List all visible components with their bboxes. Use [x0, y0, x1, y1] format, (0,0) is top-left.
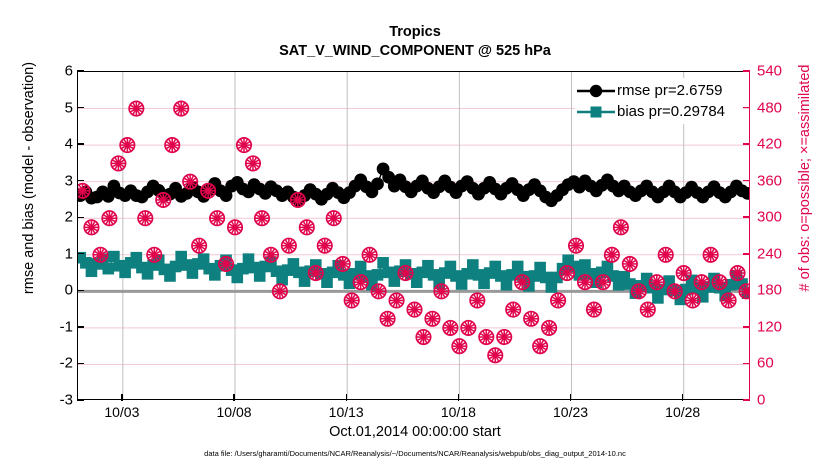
x-tick-label: 10/13 [306, 404, 386, 420]
y-tickmark-left [77, 217, 84, 218]
y-tickmark-right [743, 216, 750, 218]
x-tick-label: 10/08 [194, 404, 274, 420]
y-tickmark-right [743, 399, 750, 401]
legend-marker-bias [575, 103, 617, 121]
y-tickmark-left [77, 399, 84, 400]
y-tick-right: 300 [757, 209, 803, 226]
chart-title: Tropics [0, 24, 830, 40]
legend-item-bias[interactable]: bias pr=0.29784 [575, 101, 743, 122]
y-tickmark-right [743, 70, 750, 72]
y-tick-left: 3 [33, 172, 73, 189]
series-bias [78, 251, 749, 305]
y-tickmark-left [77, 363, 84, 364]
y-tick-right: 420 [757, 136, 803, 153]
y-tick-right: 540 [757, 63, 803, 80]
series-rmse [78, 162, 749, 207]
y-tick-left: -2 [33, 355, 73, 372]
y-tick-right: 60 [757, 355, 803, 372]
x-tickmark [682, 394, 683, 401]
y-tick-left: 4 [33, 136, 73, 153]
y-tickmark-right [743, 253, 750, 255]
y-tickmark-left [77, 143, 84, 144]
x-tickmark [346, 394, 347, 401]
y-tick-right: 0 [757, 392, 803, 409]
y-tickmark-right [743, 180, 750, 182]
x-tickmark [570, 394, 571, 401]
legend-item-rmse[interactable]: rmse pr=2.6759 [575, 80, 743, 101]
y-tickmark-left [77, 253, 84, 254]
y-tick-left: 2 [33, 209, 73, 226]
x-tickmark [458, 394, 459, 401]
y-tickmark-left [77, 70, 84, 71]
legend-label-bias: bias pr=0.29784 [617, 103, 725, 120]
y-tick-right: 180 [757, 282, 803, 299]
y-tick-right: 480 [757, 99, 803, 116]
y-tickmark-right [743, 143, 750, 145]
y-tickmark-right [743, 326, 750, 328]
legend-label-rmse: rmse pr=2.6759 [617, 82, 722, 99]
y-tick-right: 360 [757, 172, 803, 189]
y-tick-left: 6 [33, 63, 73, 80]
x-tick-label: 10/18 [418, 404, 498, 420]
x-tickmark [121, 394, 122, 401]
y-tick-left: 5 [33, 99, 73, 116]
y-tickmark-right [743, 107, 750, 109]
figure-container: Tropics SAT_V_WIND_COMPONENT @ 525 hPa r… [0, 0, 830, 470]
y-tick-right: 240 [757, 245, 803, 262]
y-tickmark-left [77, 290, 84, 291]
x-axis-label: Oct.01,2014 00:00:00 start [0, 424, 830, 440]
y-tickmark-left [77, 180, 84, 181]
y-tick-left: 0 [33, 282, 73, 299]
y-tick-left: -1 [33, 318, 73, 335]
y-tick-left: 1 [33, 245, 73, 262]
y-tick-right: 120 [757, 318, 803, 335]
x-tick-label: 10/03 [82, 404, 162, 420]
chart-subtitle: SAT_V_WIND_COMPONENT @ 525 hPa [0, 43, 830, 59]
x-tick-label: 10/28 [643, 404, 723, 420]
y-tickmark-right [743, 290, 750, 292]
data-file-caption: data file: /Users/gharamti/Documents/NCA… [0, 449, 830, 458]
y-tickmark-left [77, 326, 84, 327]
y-tickmark-left [77, 107, 84, 108]
legend: rmse pr=2.6759 bias pr=0.29784 [575, 78, 743, 124]
series--of-obs-assimilated [78, 101, 749, 362]
legend-marker-rmse [575, 82, 617, 100]
y-tickmark-right [743, 363, 750, 365]
y-tick-left: -3 [33, 392, 73, 409]
x-tick-label: 10/23 [531, 404, 611, 420]
x-tickmark [233, 394, 234, 401]
